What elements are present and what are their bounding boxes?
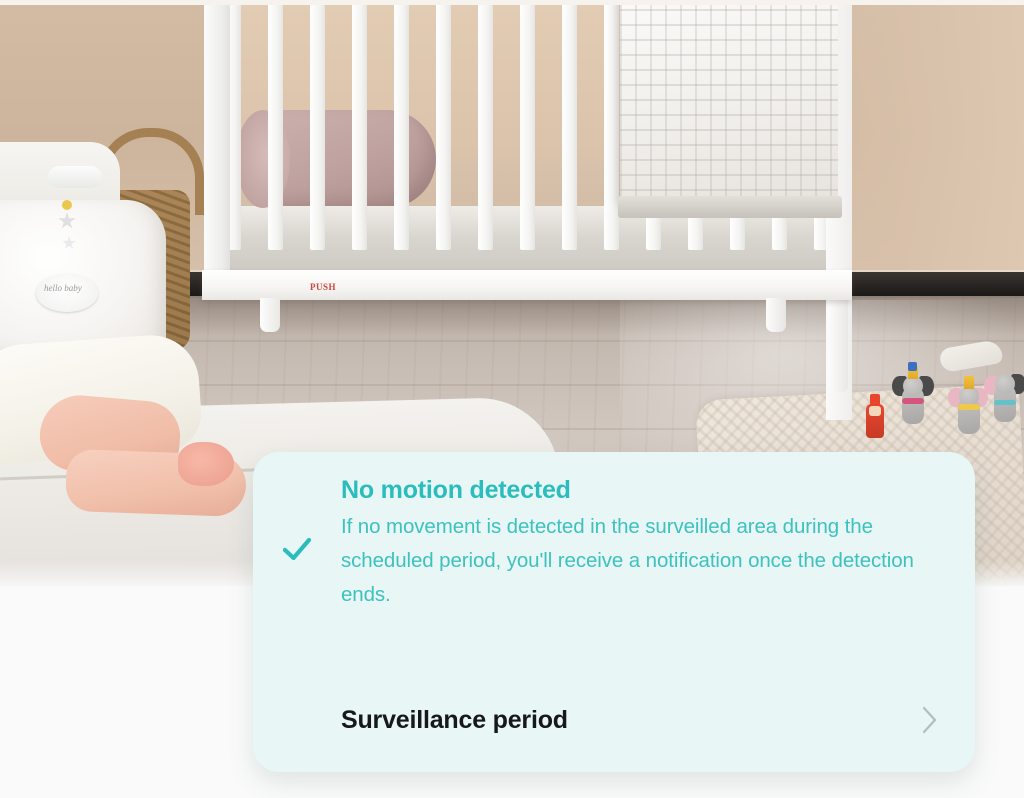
red-figure-toy bbox=[866, 394, 884, 438]
crib-leg-right bbox=[766, 298, 786, 332]
cloud-mobile bbox=[48, 166, 102, 188]
draped-blanket bbox=[620, 0, 838, 206]
option-text: No motion detected If no movement is det… bbox=[341, 474, 975, 612]
chevron-right-icon[interactable] bbox=[921, 705, 939, 735]
check-wrap bbox=[253, 474, 341, 566]
crib-push-label: PUSH bbox=[310, 282, 336, 292]
blanket-fold bbox=[618, 196, 842, 218]
crib-rail bbox=[202, 270, 852, 300]
mobile-bead-icon bbox=[62, 200, 72, 210]
crib-post-left bbox=[204, 0, 230, 300]
crib-leg-far bbox=[828, 300, 848, 392]
surveillance-period-label: Surveillance period bbox=[341, 706, 921, 735]
option-description: If no movement is detected in the survei… bbox=[341, 510, 949, 612]
cloud-plush-toy bbox=[36, 274, 98, 312]
elephant-toy-2 bbox=[952, 378, 984, 430]
surveillance-period-row[interactable]: Surveillance period bbox=[253, 668, 975, 772]
cloud-toy-label: hello baby bbox=[44, 284, 82, 293]
elephant-toy-3 bbox=[988, 366, 1022, 422]
option-title: No motion detected bbox=[341, 474, 949, 506]
no-motion-option[interactable]: No motion detected If no movement is det… bbox=[253, 474, 975, 612]
motion-settings-card: No motion detected If no movement is det… bbox=[253, 452, 975, 772]
crib-leg-left bbox=[260, 298, 280, 332]
photo-top-strip bbox=[0, 0, 1024, 5]
app-screen: PUSH hello baby bbox=[0, 0, 1024, 798]
baby-foot bbox=[178, 442, 234, 486]
check-icon bbox=[280, 532, 314, 566]
elephant-toy-1 bbox=[896, 368, 930, 424]
